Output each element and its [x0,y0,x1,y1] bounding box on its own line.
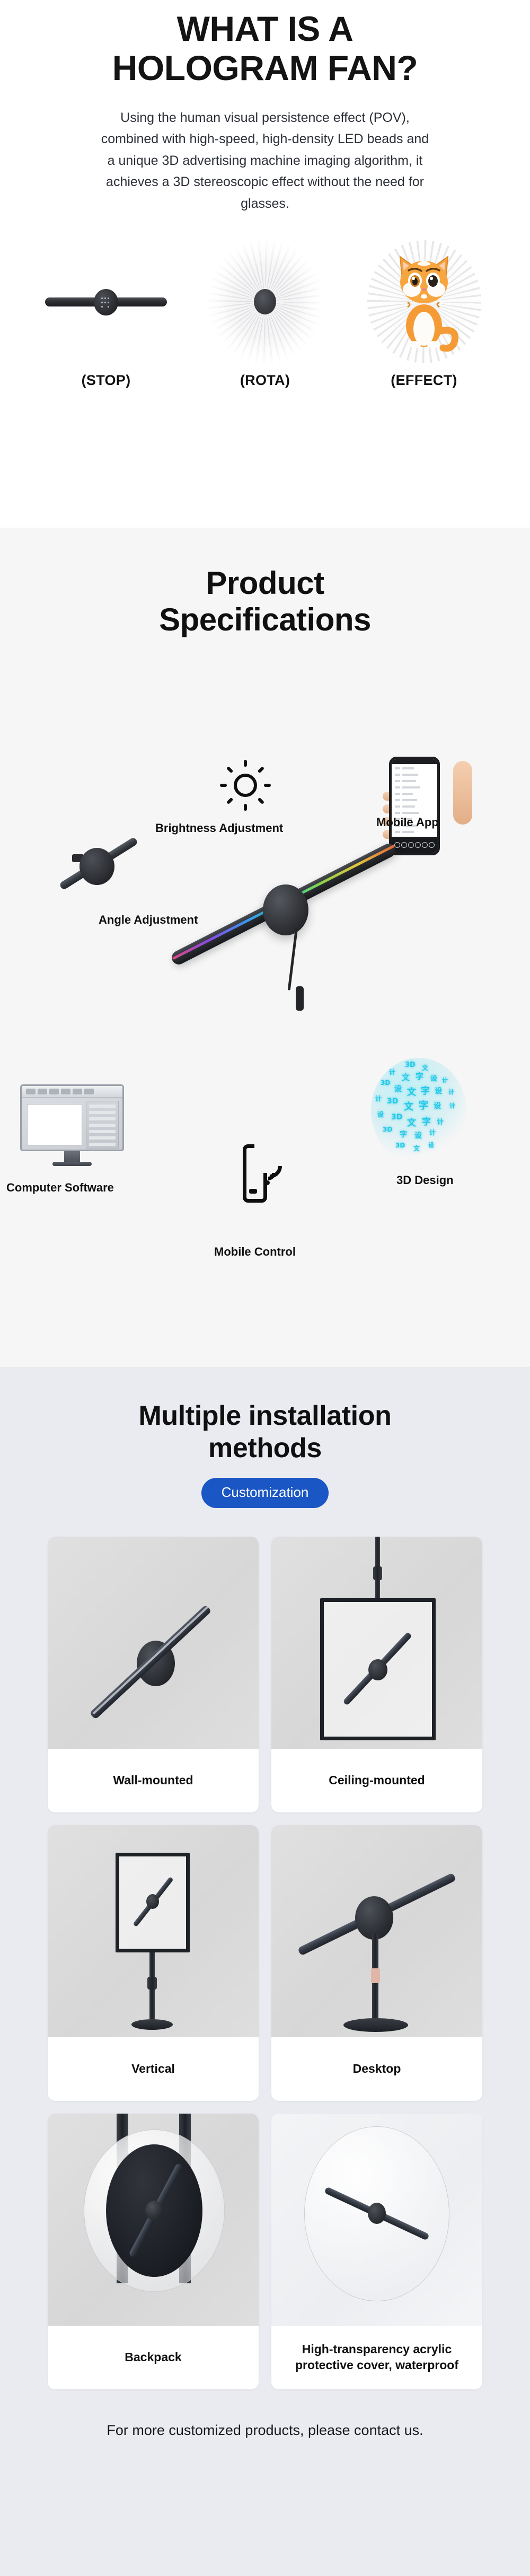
desktop-stand-art [271,1825,482,2037]
contact-note: For more customized products, please con… [0,2422,530,2439]
installation-card-grid: Wall-mounted Ceiling-mounted [48,1537,482,2389]
fan-spinning-icon [185,235,344,368]
feature-label-angle-adjustment: Angle Adjustment [99,913,198,927]
install-card-vertical[interactable]: Vertical [48,1825,259,2101]
install-card-caption: Vertical [48,2037,259,2101]
hero-title-line-2: HOLOGRAM FAN? [112,48,418,87]
demo-label-stop: (STOP) [26,372,185,389]
install-card-caption: High-transparency acrylic protective cov… [271,2326,482,2389]
install-card-acrylic-cover[interactable]: High-transparency acrylic protective cov… [271,2114,482,2389]
feature-label-3d-design: 3D Design [396,1173,454,1187]
install-title-line-1: Multiple installation [139,1400,392,1431]
globe-characters-icon: 3D 文 计 文 字 设 计 3D 设 文 字 设 计 计 3D 文 字 设 计… [371,1058,466,1164]
install-card-ceiling-mounted[interactable]: Ceiling-mounted [271,1537,482,1812]
fan-stationary-icon [26,235,185,368]
page-title: WHAT IS A HOLOGRAM FAN? [0,10,530,88]
ceiling-mounted-art [271,1537,482,1749]
install-card-backpack[interactable]: Backpack [48,2114,259,2389]
hero-demo-row: (STOP) (ROTA) [0,235,530,389]
feature-label-mobile-app: Mobile App [376,816,439,829]
phone-signal-icon [243,1144,289,1203]
install-title-line-2: methods [208,1433,322,1464]
acrylic-cover-art [271,2114,482,2326]
install-card-desktop[interactable]: Desktop [271,1825,482,2101]
demo-label-rota: (ROTA) [185,372,344,389]
tilted-fan-icon [53,825,143,904]
cat-illustration [384,251,464,352]
hero-description: Using the human visual persistence effec… [101,107,429,215]
customization-cta-wrapper: Customization [0,1478,530,1508]
demo-label-effect: (EFFECT) [344,372,503,389]
vertical-stand-art [48,1825,259,2037]
install-card-caption: Wall-mounted [48,1749,259,1812]
demo-item-rota: (ROTA) [185,235,344,389]
installation-title: Multiple installation methods [0,1400,530,1465]
feature-label-computer-software: Computer Software [6,1181,114,1195]
feature-label-mobile-control: Mobile Control [214,1245,296,1259]
customization-button[interactable]: Customization [201,1478,329,1508]
hero-title-line-1: WHAT IS A [177,9,354,48]
demo-item-effect: (EFFECT) [344,235,503,389]
specifications-section: Product Specifications [0,528,530,1367]
install-card-caption: Ceiling-mounted [271,1749,482,1812]
wall-mounted-art [48,1537,259,1749]
specifications-diagram: 3D 文 计 文 字 设 计 3D 设 文 字 设 计 计 3D 文 字 设 计… [0,528,530,1367]
install-card-caption: Desktop [271,2037,482,2101]
hologram-cat-icon [344,235,503,368]
install-card-caption: Backpack [48,2326,259,2389]
hero-section: WHAT IS A HOLOGRAM FAN? Using the human … [0,0,530,528]
demo-item-stop: (STOP) [26,235,185,389]
installation-section: Multiple installation methods Customizat… [0,1367,530,2576]
feature-label-brightness-adjustment: Brightness Adjustment [155,821,283,835]
backpack-art [48,2114,259,2326]
install-card-wall-mounted[interactable]: Wall-mounted [48,1537,259,1812]
desktop-monitor-icon [20,1084,124,1168]
